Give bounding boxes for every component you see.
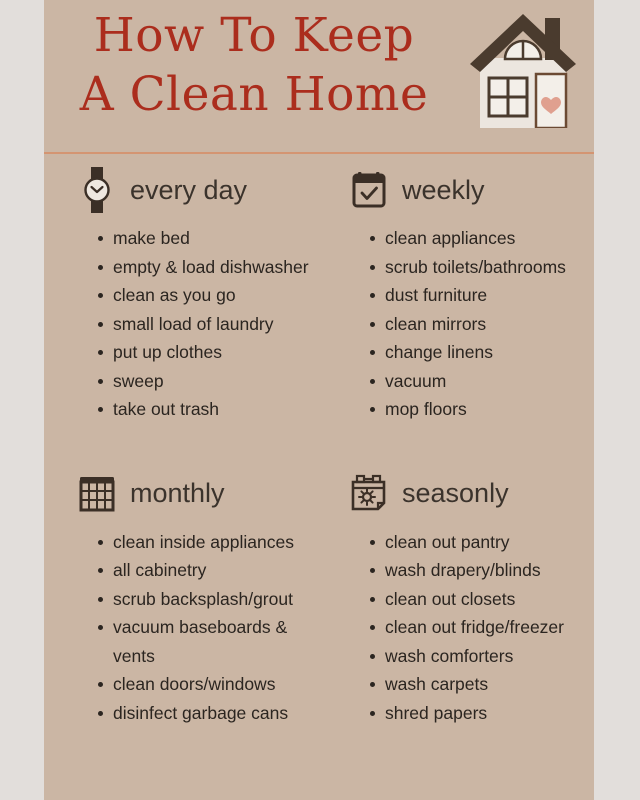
list-item: clean doors/windows	[96, 670, 336, 699]
infographic-poster: How To Keep A Clean Home	[44, 0, 594, 800]
section-every-day: every day make bed empty & load dishwash…	[44, 160, 336, 424]
list-item: wash carpets	[368, 670, 594, 699]
list-item: clean out fridge/freezer	[368, 613, 594, 642]
list-item: scrub toilets/bathrooms	[368, 253, 594, 282]
list-item: small load of laundry	[96, 310, 336, 339]
list-item: clean appliances	[368, 224, 594, 253]
watch-icon	[74, 167, 120, 213]
title-line-1: How To Keep	[54, 6, 454, 65]
list-item: scrub backsplash/grout	[96, 585, 336, 614]
sections-grid: every day make bed empty & load dishwash…	[44, 160, 594, 727]
house-icon	[462, 6, 584, 128]
section-label-every-day: every day	[130, 175, 247, 206]
section-header-seasonly: seasonly	[346, 464, 594, 524]
list-item: clean out pantry	[368, 528, 594, 557]
list-item: clean inside appliances	[96, 528, 336, 557]
list-item: empty & load dishwasher	[96, 253, 336, 282]
section-header-weekly: weekly	[346, 160, 594, 220]
list-item: dust furniture	[368, 281, 594, 310]
section-weekly: weekly clean appliances scrub toilets/ba…	[336, 160, 594, 424]
section-seasonly: seasonly clean out pantry wash drapery/b…	[336, 464, 594, 728]
list-item: make bed	[96, 224, 336, 253]
list-item: clean as you go	[96, 281, 336, 310]
poster-header: How To Keep A Clean Home	[44, 0, 594, 155]
list-item: vacuum	[368, 367, 594, 396]
list-item: take out trash	[96, 395, 336, 424]
list-item: wash drapery/blinds	[368, 556, 594, 585]
list-item: wash comforters	[368, 642, 594, 671]
header-divider	[44, 152, 594, 154]
section-label-monthly: monthly	[130, 478, 225, 509]
list-item: sweep	[96, 367, 336, 396]
section-label-weekly: weekly	[402, 175, 485, 206]
title-line-2: A Clean Home	[54, 65, 454, 124]
list-item: disinfect garbage cans	[96, 699, 336, 728]
list-seasonly: clean out pantry wash drapery/blinds cle…	[346, 528, 594, 728]
calendar-sun-icon	[346, 471, 392, 517]
list-every-day: make bed empty & load dishwasher clean a…	[74, 224, 336, 424]
list-item: shred papers	[368, 699, 594, 728]
page-title: How To Keep A Clean Home	[54, 6, 454, 124]
list-item: put up clothes	[96, 338, 336, 367]
sections-row-bottom: monthly clean inside appliances all cabi…	[44, 464, 594, 728]
list-item: all cabinetry	[96, 556, 336, 585]
list-item: mop floors	[368, 395, 594, 424]
list-monthly: clean inside appliances all cabinetry sc…	[74, 528, 336, 728]
section-monthly: monthly clean inside appliances all cabi…	[44, 464, 336, 728]
list-item: clean mirrors	[368, 310, 594, 339]
list-item: change linens	[368, 338, 594, 367]
house-illustration	[462, 6, 584, 128]
calendar-grid-icon	[74, 471, 120, 517]
list-item: vacuum baseboards & vents	[96, 613, 336, 670]
list-item: clean out closets	[368, 585, 594, 614]
section-header-monthly: monthly	[74, 464, 336, 524]
list-weekly: clean appliances scrub toilets/bathrooms…	[346, 224, 594, 424]
sections-row-top: every day make bed empty & load dishwash…	[44, 160, 594, 424]
section-label-seasonly: seasonly	[402, 478, 509, 509]
section-header-every-day: every day	[74, 160, 336, 220]
calendar-check-icon	[346, 167, 392, 213]
